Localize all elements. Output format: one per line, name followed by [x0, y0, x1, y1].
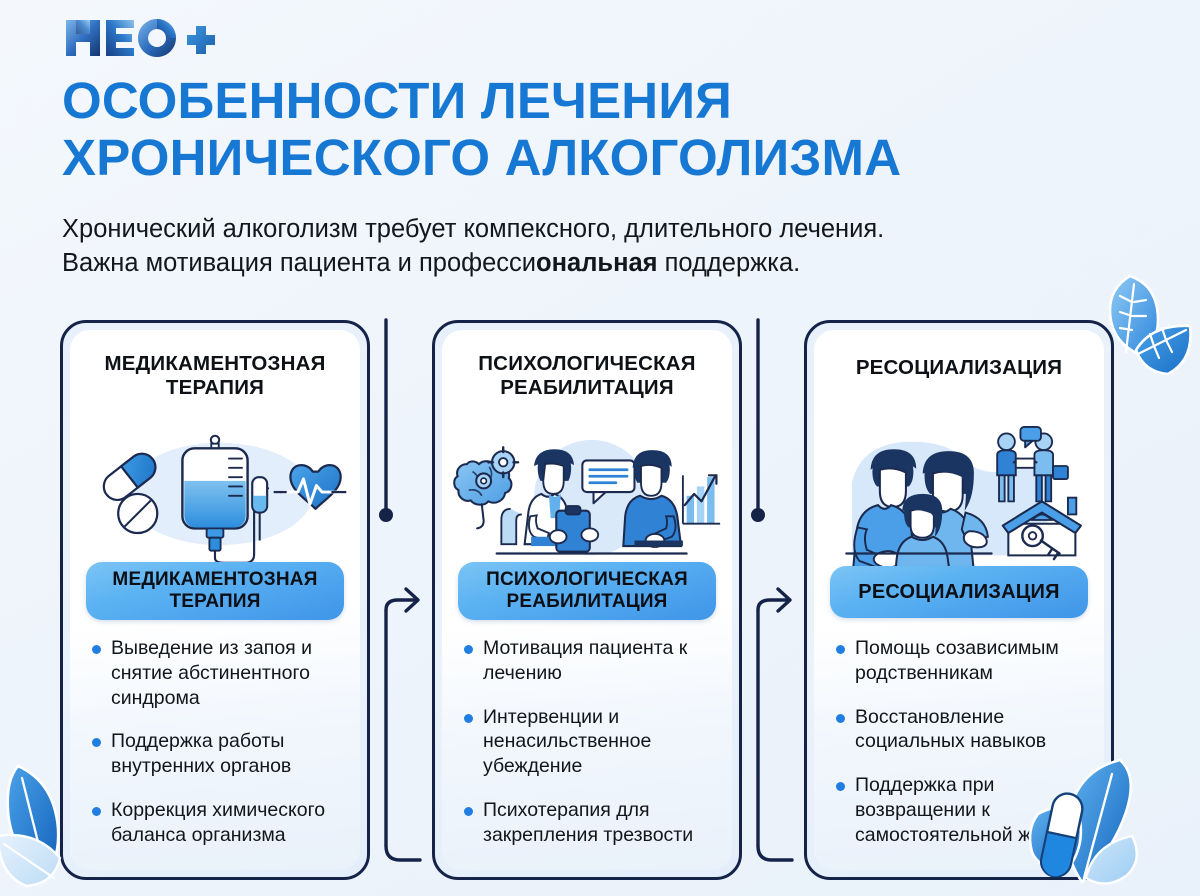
treatment-stage-cards: МЕДИКАМЕНТОЗНАЯ ТЕРАПИЯ: [60, 320, 1140, 880]
bullet-text: Интервенции и ненасильственное убеждение: [483, 705, 718, 779]
card-slot-1: МЕДИКАМЕНТОЗНАЯ ТЕРАПИЯ: [60, 320, 370, 880]
bullet-text: Восстановление социальных навыков: [855, 705, 1090, 755]
family-handshake-home-illustration: [824, 418, 1094, 568]
page-title-line2: ХРОНИЧЕСКОГО АЛКОГОЛИЗМА: [62, 129, 1132, 186]
bullet-text: Поддержка работы внутренних органов: [111, 729, 346, 779]
page-title-line1: ОСОБЕННОСТИ ЛЕЧЕНИЯ: [62, 72, 732, 129]
card-inner-panel: РЕСОЦИАЛИЗАЦИЯ: [814, 330, 1104, 870]
subtitle-line2-bold: ональная: [536, 249, 658, 277]
list-item: Выведение из запоя и снятие абстинентног…: [92, 636, 346, 710]
bullet-dot-icon: [836, 714, 845, 723]
card-bullet-list: Помощь созависимым родственникам Восстан…: [836, 636, 1090, 866]
neo-plus-logo-icon: [62, 14, 232, 62]
card-bullet-list: Выведение из запоя и снятие абстинентног…: [92, 636, 346, 866]
therapy-session-brain-chart-illustration: [452, 418, 722, 568]
list-item: Помощь созависимым родственникам: [836, 636, 1090, 686]
bullet-dot-icon: [464, 807, 473, 816]
connector-card1-to-card2: [370, 320, 432, 880]
card-badge[interactable]: ПСИХОЛОГИЧЕСКАЯ РЕАБИЛИТАЦИЯ: [458, 562, 716, 620]
card-inner-panel: ПСИХОЛОГИЧЕСКАЯ РЕАБИЛИТАЦИЯ: [442, 330, 732, 870]
list-item: Восстановление социальных навыков: [836, 705, 1090, 755]
card-psychological-rehabilitation[interactable]: ПСИХОЛОГИЧЕСКАЯ РЕАБИЛИТАЦИЯ: [432, 320, 742, 880]
bullet-dot-icon: [92, 645, 101, 654]
card-heading: РЕСОЦИАЛИЗАЦИЯ: [828, 356, 1090, 380]
list-item: Мотивация пациента к лечению: [464, 636, 718, 686]
subtitle-line-1: Хронический алкоголизм требует компексно…: [62, 213, 1102, 247]
bullet-dot-icon: [92, 738, 101, 747]
subtitle-line-2: Важна мотивация пациента и профессиональ…: [62, 247, 1102, 281]
card-heading: ПСИХОЛОГИЧЕСКАЯ РЕАБИЛИТАЦИЯ: [456, 352, 718, 400]
card-heading: МЕДИКАМЕНТОЗНАЯ ТЕРАПИЯ: [84, 352, 346, 400]
list-item: Поддержка при возвращении к самостоятель…: [836, 773, 1090, 847]
bullet-text: Выведение из запоя и снятие абстинентног…: [111, 636, 346, 710]
card-slot-3: РЕСОЦИАЛИЗАЦИЯ: [804, 320, 1114, 880]
bullet-text: Коррекция химического баланса организма: [111, 798, 346, 848]
page-subtitle: Хронический алкоголизм требует компексно…: [62, 213, 1102, 281]
bullet-text: Психотерапия для закрепления трезвости: [483, 798, 718, 848]
list-item: Интервенции и ненасильственное убеждение: [464, 705, 718, 779]
bullet-dot-icon: [464, 645, 473, 654]
medication-iv-heart-illustration: [80, 418, 350, 568]
subtitle-line2-pre: Важна мотивация пациента и професси: [62, 249, 536, 277]
card-slot-2: ПСИХОЛОГИЧЕСКАЯ РЕАБИЛИТАЦИЯ: [432, 320, 742, 880]
brand-logo: [62, 14, 232, 62]
subtitle-line2-post: поддержка.: [658, 249, 801, 277]
bullet-dot-icon: [836, 782, 845, 791]
card-inner-panel: МЕДИКАМЕНТОЗНАЯ ТЕРАПИЯ: [70, 330, 360, 870]
list-item: Коррекция химического баланса организма: [92, 798, 346, 848]
card-bullet-list: Мотивация пациента к лечению Интервенции…: [464, 636, 718, 866]
bullet-text: Поддержка при возвращении к самостоятель…: [855, 773, 1090, 847]
bullet-text: Мотивация пациента к лечению: [483, 636, 718, 686]
connector-card2-to-card3: [742, 320, 804, 880]
list-item: Психотерапия для закрепления трезвости: [464, 798, 718, 848]
bullet-text: Помощь созависимым родственникам: [855, 636, 1090, 686]
page-title: ОСОБЕННОСТИ ЛЕЧЕНИЯ ХРОНИЧЕСКОГО АЛКОГОЛ…: [62, 72, 1132, 186]
bullet-dot-icon: [92, 807, 101, 816]
card-medication-therapy[interactable]: МЕДИКАМЕНТОЗНАЯ ТЕРАПИЯ: [60, 320, 370, 880]
card-resocialization[interactable]: РЕСОЦИАЛИЗАЦИЯ: [804, 320, 1114, 880]
bullet-dot-icon: [836, 645, 845, 654]
card-badge[interactable]: МЕДИКАМЕНТОЗНАЯ ТЕРАПИЯ: [86, 562, 344, 620]
bullet-dot-icon: [464, 714, 473, 723]
card-badge[interactable]: РЕСОЦИАЛИЗАЦИЯ: [830, 566, 1088, 618]
list-item: Поддержка работы внутренних органов: [92, 729, 346, 779]
